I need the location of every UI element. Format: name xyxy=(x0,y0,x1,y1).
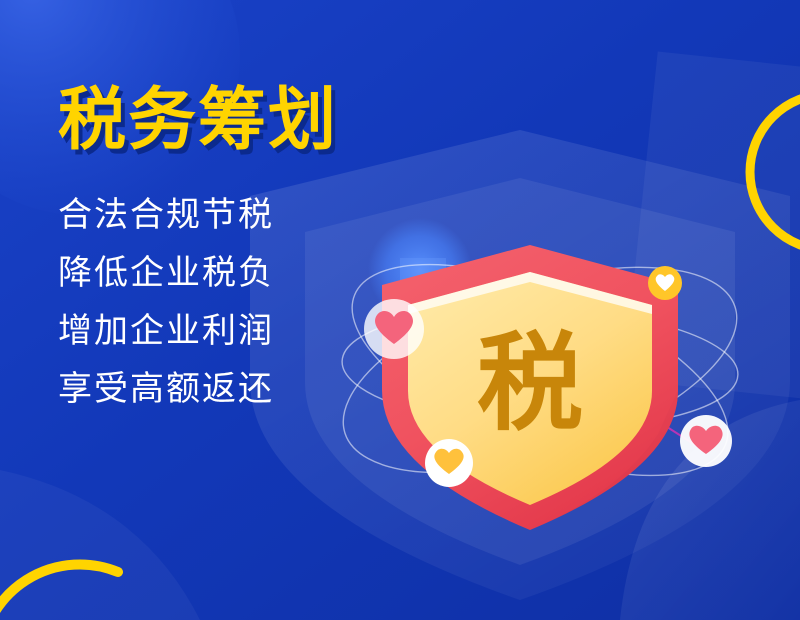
subtitle-line-1: 合法合规节税 xyxy=(58,198,378,232)
heart-badge-top-right xyxy=(648,266,682,300)
subtitle-line-2: 降低企业税负 xyxy=(58,256,378,290)
tax-planning-banner: 税 税务筹划 合法合规节税 降低企业税负 增加企业利润 享受高额返还 xyxy=(0,0,800,620)
subtitle-line-3: 增加企业利润 xyxy=(58,314,378,348)
page-title: 税务筹划 xyxy=(58,86,378,154)
heart-badge-bottom-left xyxy=(425,439,473,487)
subtitle-line-4: 享受高额返还 xyxy=(58,372,378,406)
headline-text-block: 税务筹划 合法合规节税 降低企业税负 增加企业利润 享受高额返还 xyxy=(58,86,378,406)
heart-badge-right xyxy=(680,415,732,467)
